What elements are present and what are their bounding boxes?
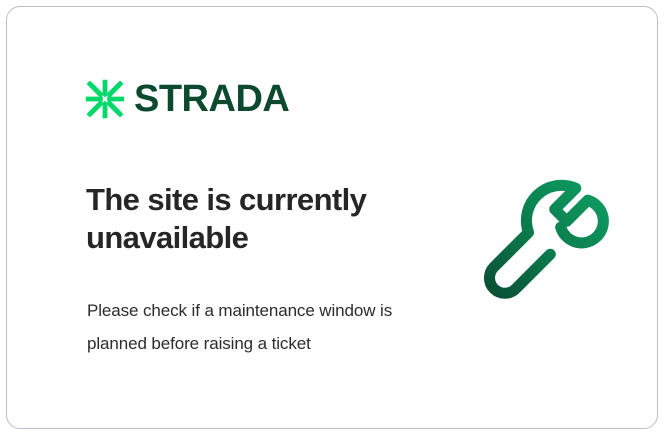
brand-lockup: STRADA bbox=[85, 77, 289, 121]
wrench-icon bbox=[467, 165, 617, 315]
status-card: STRADA The site is currently unavailable… bbox=[6, 6, 658, 429]
strada-asterisk-icon bbox=[85, 79, 125, 119]
status-page: STRADA The site is currently unavailable… bbox=[0, 0, 666, 436]
brand-wordmark: STRADA bbox=[134, 80, 289, 118]
page-title: The site is currently unavailable bbox=[86, 181, 416, 258]
page-description: Please check if a maintenance window is … bbox=[87, 294, 397, 360]
